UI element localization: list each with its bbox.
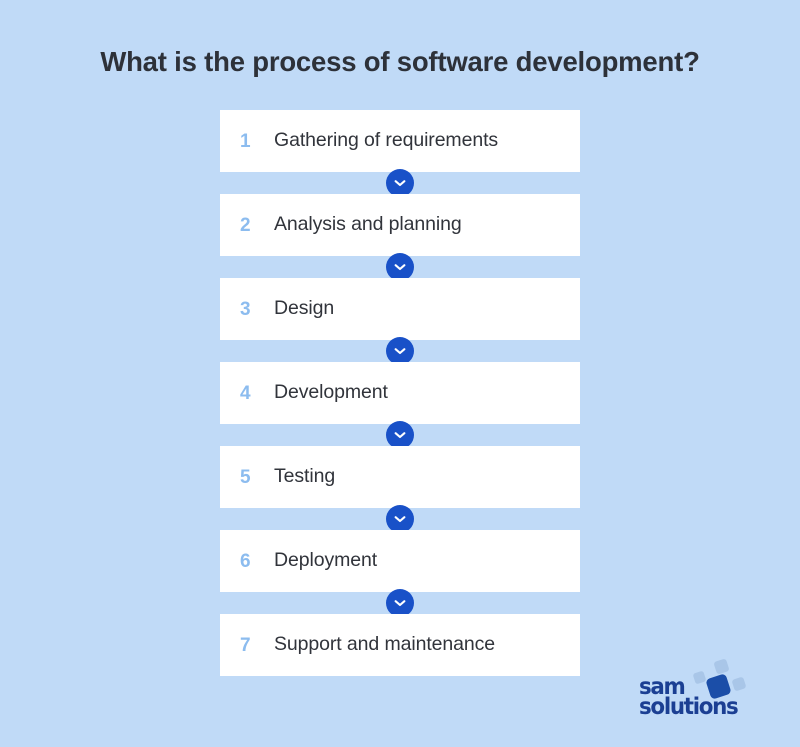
process-step: 4Development: [220, 362, 580, 424]
step-connector: [220, 172, 580, 194]
chevron-down-icon: [386, 421, 414, 449]
step-number: 3: [240, 300, 274, 319]
process-step: 1Gathering of requirements: [220, 110, 580, 172]
infographic-canvas: What is the process of software developm…: [0, 0, 800, 747]
step-connector: [220, 256, 580, 278]
step-label: Gathering of requirements: [274, 131, 498, 151]
step-label: Design: [274, 299, 334, 319]
step-number: 2: [240, 216, 274, 235]
step-card: 6Deployment: [220, 530, 580, 592]
page-title: What is the process of software developm…: [0, 44, 800, 80]
step-label: Development: [274, 383, 388, 403]
step-card: 3Design: [220, 278, 580, 340]
step-number: 7: [240, 636, 274, 655]
step-label: Deployment: [274, 551, 377, 571]
process-step: 7Support and maintenance: [220, 614, 580, 676]
chevron-down-icon: [386, 505, 414, 533]
process-step: 6Deployment: [220, 530, 580, 592]
step-label: Analysis and planning: [274, 215, 462, 235]
process-step: 5Testing: [220, 446, 580, 508]
chevron-down-icon: [386, 253, 414, 281]
step-number: 1: [240, 132, 274, 151]
sam-solutions-logo: sam solutions: [632, 658, 782, 720]
step-card: 4Development: [220, 362, 580, 424]
process-step: 2Analysis and planning: [220, 194, 580, 256]
chevron-down-icon: [386, 589, 414, 617]
step-card: 1Gathering of requirements: [220, 110, 580, 172]
step-card: 2Analysis and planning: [220, 194, 580, 256]
process-step-list: 1Gathering of requirements2Analysis and …: [220, 110, 580, 676]
step-number: 5: [240, 468, 274, 487]
logo-line-2: solutions: [639, 698, 737, 718]
chevron-down-icon: [386, 337, 414, 365]
step-card: 5Testing: [220, 446, 580, 508]
logo-wordmark: sam solutions: [639, 678, 745, 718]
process-step: 3Design: [220, 278, 580, 340]
step-connector: [220, 340, 580, 362]
step-label: Testing: [274, 467, 335, 487]
step-connector: [220, 508, 580, 530]
step-number: 4: [240, 384, 274, 403]
step-card: 7Support and maintenance: [220, 614, 580, 676]
step-label: Support and maintenance: [274, 635, 495, 655]
step-number: 6: [240, 552, 274, 571]
step-connector: [220, 592, 580, 614]
chevron-down-icon: [386, 169, 414, 197]
step-connector: [220, 424, 580, 446]
